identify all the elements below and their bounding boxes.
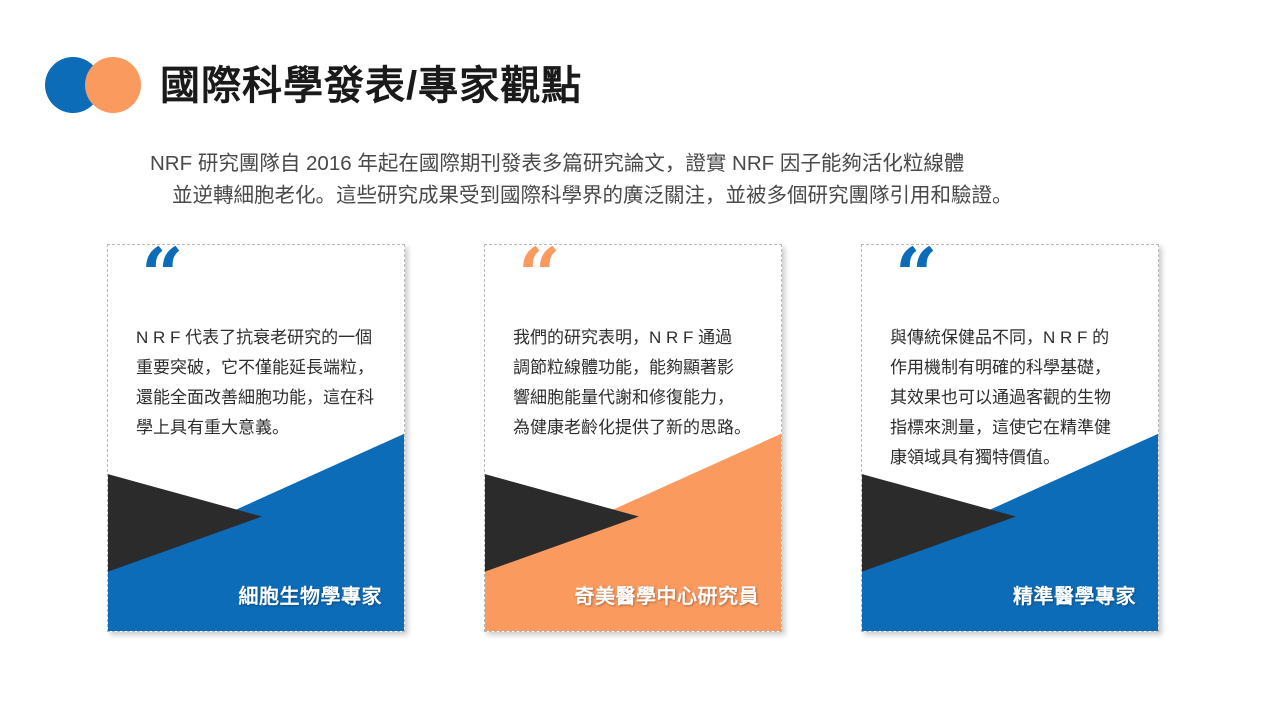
logo	[45, 57, 141, 113]
subtitle-line-1: NRF 研究團隊自 2016 年起在國際期刊發表多篇研究論文，證實 NRF 因子…	[150, 148, 1162, 180]
quote-open-icon: “	[518, 244, 561, 313]
quote-line: 響細胞能量代謝和修復能力，	[513, 383, 757, 413]
quote-line: 調節粒線體功能，能夠顯著影	[513, 353, 757, 383]
quote-line: 其效果也可以通過客觀的生物	[890, 383, 1134, 413]
testimonial-author-label: 奇美醫學中心研究員	[575, 580, 760, 609]
quote-line: 我們的研究表明，N R F 通過	[513, 323, 757, 353]
subtitle-line-2: 並逆轉細胞老化。這些研究成果受到國際科學界的廣泛關注，並被多個研究團隊引用和驗證…	[150, 180, 1162, 212]
quote-open-icon: “	[895, 244, 938, 313]
quote-line: 作用機制有明確的科學基礎，	[890, 353, 1134, 383]
testimonial-author-label: 精準醫學專家	[1013, 580, 1136, 609]
quote-line: 與傳統保健品不同，N R F 的	[890, 323, 1134, 353]
quote-line: 還能全面改善細胞功能，這在科	[136, 383, 380, 413]
testimonial-card[interactable]: “ 與傳統保健品不同，N R F 的 作用機制有明確的科學基礎， 其效果也可以通…	[861, 244, 1159, 632]
slide-subtitle: NRF 研究團隊自 2016 年起在國際期刊發表多篇研究論文，證實 NRF 因子…	[150, 148, 1162, 212]
testimonial-card[interactable]: “ N R F 代表了抗衰老研究的一個 重要突破，它不僅能延長端粒， 還能全面改…	[107, 244, 405, 632]
testimonial-card-list: “ N R F 代表了抗衰老研究的一個 重要突破，它不僅能延長端粒， 還能全面改…	[0, 244, 1280, 636]
testimonial-card[interactable]: “ 我們的研究表明，N R F 通過 調節粒線體功能，能夠顯著影 響細胞能量代謝…	[484, 244, 782, 632]
quote-line: N R F 代表了抗衰老研究的一個	[136, 323, 380, 353]
quote-open-icon: “	[141, 244, 184, 313]
page-title: 國際科學發表/專家觀點	[160, 58, 582, 114]
testimonial-author-label: 細胞生物學專家	[239, 580, 383, 609]
quote-line: 重要突破，它不僅能延長端粒，	[136, 353, 380, 383]
orange-circle-icon	[85, 57, 141, 113]
slide-header: 國際科學發表/專家觀點	[0, 0, 1280, 130]
